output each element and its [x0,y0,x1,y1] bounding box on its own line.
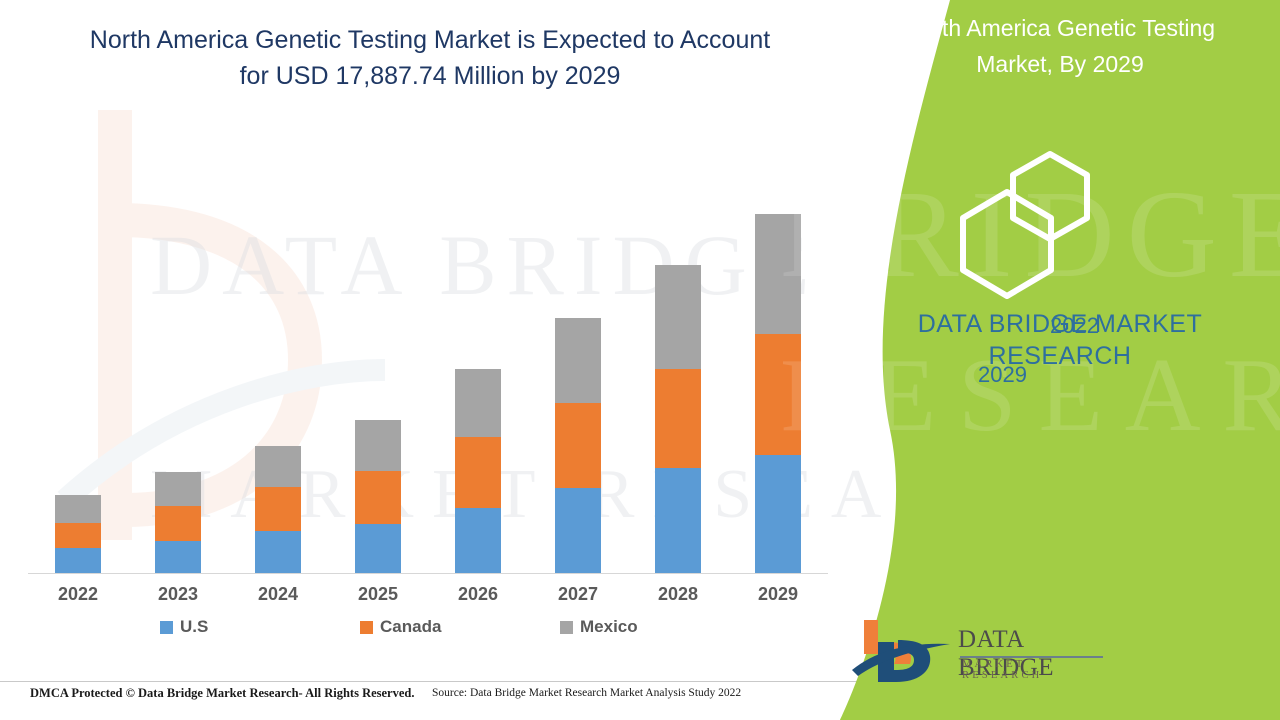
panel-title-line-1: North America Genetic Testing [860,10,1260,46]
logo-tagline: MARKET RESEARCH [962,659,1080,681]
logo-underline [960,656,1103,658]
hexagon-group: 2029 2022 [950,140,1150,300]
x-tick-label-2027: 2027 [532,584,624,605]
bar-segment-us-2024[interactable] [255,531,301,573]
page-title-line-2: for USD 17,887.74 Million by 2029 [60,58,800,94]
source-note: Source: Data Bridge Market Research Mark… [432,687,741,699]
legend-label: Canada [380,617,441,637]
bar-segment-canada-2024[interactable] [255,487,301,531]
brand-name-line-1: DATA BRIDGE MARKET [880,308,1240,340]
legend-label: U.S [180,617,208,637]
bar-segment-us-2025[interactable] [355,524,401,573]
bar-segment-canada-2027[interactable] [555,403,601,488]
bar-2028[interactable] [655,265,701,573]
bar-segment-us-2029[interactable] [755,455,801,573]
bar-segment-canada-2023[interactable] [155,506,201,541]
copyright-notice: DMCA Protected © Data Bridge Market Rese… [30,686,415,701]
hexagon-outlines-icon [950,140,1150,310]
bar-2023[interactable] [155,472,201,573]
bar-segment-mexico-2026[interactable] [455,369,501,437]
x-axis-tick-labels: 20222023202420252026202720282029 [28,584,828,614]
legend-label: Mexico [580,617,638,637]
slide-canvas: DATA BRIDGE MARKET RESEARCH North Americ… [0,0,1280,720]
x-tick-label-2028: 2028 [632,584,724,605]
legend-swatch-icon [160,621,173,634]
x-tick-label-2022: 2022 [32,584,124,605]
bar-segment-mexico-2024[interactable] [255,446,301,487]
x-tick-label-2029: 2029 [732,584,824,605]
page-title-line-1: North America Genetic Testing Market is … [60,22,800,58]
bar-2024[interactable] [255,446,301,573]
legend-item-canada[interactable]: Canada [360,617,560,637]
bar-2022[interactable] [55,495,101,573]
bar-segment-mexico-2022[interactable] [55,495,101,523]
bar-segment-us-2027[interactable] [555,488,601,573]
panel-title: North America Genetic Testing Market, By… [860,10,1260,82]
bar-segment-canada-2025[interactable] [355,471,401,524]
x-tick-label-2026: 2026 [432,584,524,605]
legend-swatch-icon [360,621,373,634]
bar-segment-mexico-2025[interactable] [355,420,401,471]
branding-panel: BRIDGE RESEARCH North America Genetic Te… [820,0,1280,720]
chart-legend: U.SCanadaMexico [160,617,760,637]
stacked-bar-chart [28,150,828,574]
x-axis-line [28,573,828,574]
page-title: North America Genetic Testing Market is … [60,22,800,94]
panel-title-line-2: Market, By 2029 [860,46,1260,82]
bar-2027[interactable] [555,318,601,573]
bar-2025[interactable] [355,420,401,573]
hexagon-2029-shape [963,192,1051,296]
bar-segment-us-2023[interactable] [155,541,201,573]
bar-2026[interactable] [455,369,501,573]
brand-name-line-2: RESEARCH [880,340,1240,372]
bar-segment-mexico-2023[interactable] [155,472,201,506]
bar-segment-mexico-2027[interactable] [555,318,601,403]
x-tick-label-2025: 2025 [332,584,424,605]
legend-item-us[interactable]: U.S [160,617,360,637]
data-bridge-logo: DATA BRIDGE MARKET RESEARCH [850,612,1080,690]
bar-segment-canada-2028[interactable] [655,369,701,468]
bar-segment-canada-2026[interactable] [455,437,501,508]
bar-segment-us-2026[interactable] [455,508,501,573]
brand-name: DATA BRIDGE MARKET RESEARCH [880,308,1240,372]
x-tick-label-2023: 2023 [132,584,224,605]
x-tick-label-2024: 2024 [232,584,324,605]
bar-segment-us-2028[interactable] [655,468,701,573]
legend-swatch-icon [560,621,573,634]
chart-plot-area [28,153,828,573]
bar-segment-canada-2022[interactable] [55,523,101,548]
bar-segment-us-2022[interactable] [55,548,101,573]
bar-segment-mexico-2028[interactable] [655,265,701,369]
legend-item-mexico[interactable]: Mexico [560,617,760,637]
logo-mark-icon [850,612,955,690]
